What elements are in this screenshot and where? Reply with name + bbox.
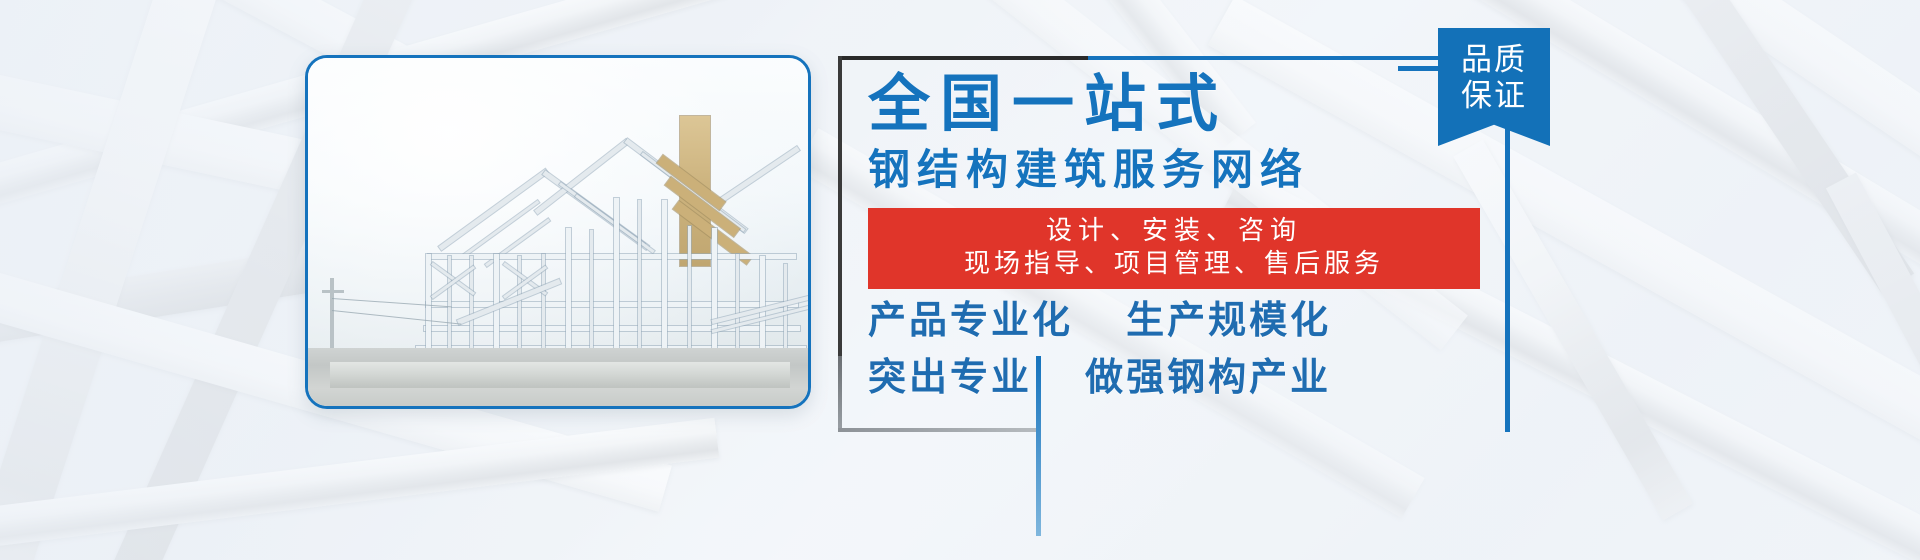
slogan-row-1: 产品专业化 生产规模化 <box>868 296 1500 346</box>
photo-frame-member <box>711 146 800 208</box>
badge-line-2: 保证 <box>1461 78 1527 114</box>
slogan-2-right: 做强钢构产业 <box>1085 357 1331 399</box>
photo-frame-member <box>428 254 796 259</box>
frame-left-dark-line <box>838 56 842 356</box>
services-line-1: 设计、安装、咨询 <box>868 214 1480 247</box>
slogan-1-left: 产品专业化 <box>868 300 1073 342</box>
photo-frame-member <box>439 169 549 251</box>
badge-line-1: 品质 <box>1461 42 1527 78</box>
photo-truss-diagonal <box>431 266 475 299</box>
frame-left-grey-line <box>838 356 842 432</box>
steel-structure-banner: 品质 保证 全国一站式 钢结构建筑服务网络 设计、安装、咨询 现场指导、项目管理… <box>0 0 1920 560</box>
headline-secondary: 钢结构建筑服务网络 <box>868 144 1500 196</box>
headline-primary: 全国一站式 <box>868 68 1500 142</box>
slogan-row-2: 突出专业 做强钢构产业 <box>868 353 1500 403</box>
steel-frame-house-photo <box>308 58 808 406</box>
photo-frame-member <box>463 200 539 257</box>
banner-text-stack: 全国一站式 钢结构建筑服务网络 设计、安装、咨询 现场指导、项目管理、售后服务 … <box>860 68 1500 403</box>
photo-frame-member <box>424 326 800 331</box>
services-red-box: 设计、安装、咨询 现场指导、项目管理、售后服务 <box>868 208 1480 289</box>
photo-power-wire <box>332 310 461 325</box>
project-photo-card <box>305 55 811 409</box>
services-line-2: 现场指导、项目管理、售后服务 <box>868 247 1480 280</box>
slogan-1-right: 生产规模化 <box>1126 300 1331 342</box>
badge-ribbon-tail <box>1398 66 1442 71</box>
photo-frame-member <box>426 302 798 307</box>
photo-concrete-slab <box>330 362 790 388</box>
frame-bottom-grey-line <box>838 428 1038 432</box>
slogan-2-left: 突出专业 <box>868 357 1032 399</box>
frame-top-dark-line <box>838 56 1088 60</box>
photo-utility-pole-arm <box>322 290 344 293</box>
